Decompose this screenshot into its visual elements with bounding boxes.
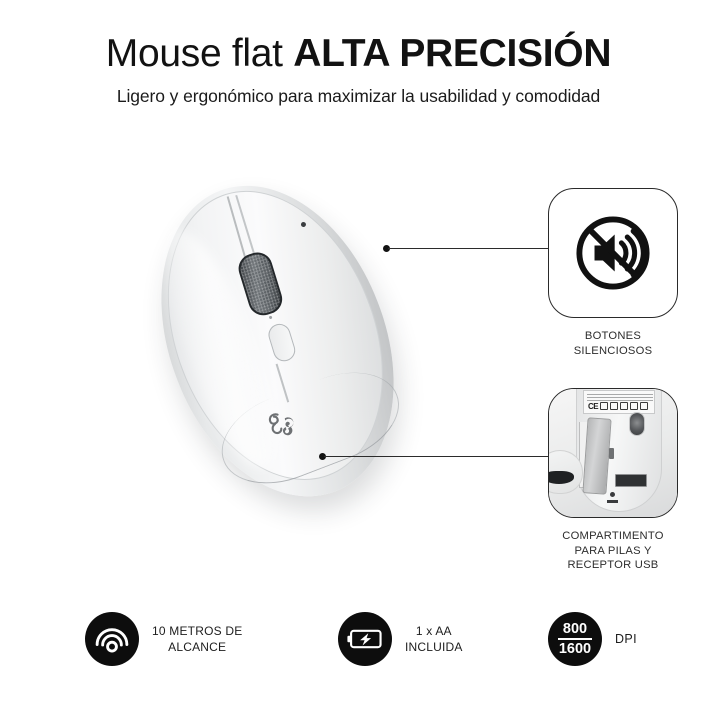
cert-mark-icon <box>620 402 628 410</box>
page-title: Mouse flat ALTA PRECISIÓN <box>0 30 717 78</box>
callout-silent-buttons: BOTONES SILENCIOSOS <box>548 188 678 358</box>
mouse-rotor <box>64 113 501 567</box>
feature-badge-dpi: 800 1600 <box>548 612 602 666</box>
product-image-mouse <box>118 160 448 520</box>
receiver-notch <box>609 448 614 459</box>
feature-battery: 1 x AA INCLUIDA <box>338 612 463 666</box>
caption-line: BOTONES <box>585 330 641 342</box>
dpi-value-low: 800 <box>563 622 587 638</box>
caption-line: RECEPTOR USB <box>567 559 658 571</box>
product-infographic: Mouse flat ALTA PRECISIÓN Ligero y ergon… <box>0 0 717 717</box>
leader-line-silent <box>388 248 550 249</box>
dpi-fraction-icon: 800 1600 <box>558 622 592 656</box>
feature-line: INCLUIDA <box>405 639 463 655</box>
wireless-signal-icon <box>95 622 129 656</box>
callout-caption-silent: BOTONES SILENCIOSOS <box>548 329 678 358</box>
cert-mark-icon <box>600 402 608 410</box>
cert-mark-icon <box>640 402 648 410</box>
usb-receiver-slot <box>615 474 647 487</box>
title-light-part: Mouse flat <box>106 32 293 75</box>
ce-mark-icon: CE <box>588 402 598 411</box>
leader-line-compartment <box>324 456 550 457</box>
cert-mark-icon <box>610 402 618 410</box>
feature-text-battery: 1 x AA INCLUIDA <box>405 623 463 655</box>
feature-line: ALCANCE <box>152 639 242 655</box>
feature-text-range: 10 METROS DE ALCANCE <box>152 623 242 655</box>
dpi-value-high: 1600 <box>559 640 591 656</box>
regulatory-label: CE <box>583 390 655 414</box>
cert-mark-icon <box>630 402 638 410</box>
caption-line: COMPARTIMENTO <box>562 530 663 542</box>
battery-bolt-icon <box>347 626 383 652</box>
callout-box-compartment: CE <box>548 388 678 518</box>
callout-battery-compartment: CE COMPARTIMENTO PARA P <box>548 388 678 573</box>
callout-caption-compartment: COMPARTIMENTO PARA PILAS Y RECEPTOR USB <box>548 529 678 573</box>
header: Mouse flat ALTA PRECISIÓN Ligero y ergon… <box>0 30 717 107</box>
feature-line: 1 x AA <box>405 623 463 639</box>
title-bold-part: ALTA PRECISIÓN <box>293 32 611 75</box>
label-fine-print <box>587 393 653 401</box>
screw-icon <box>607 492 617 506</box>
feature-text-dpi: DPI <box>615 632 637 646</box>
optical-sensor <box>629 412 645 436</box>
label-certification-marks: CE <box>588 401 652 411</box>
feature-range: 10 METROS DE ALCANCE <box>85 612 242 666</box>
callout-box-silent <box>548 188 678 318</box>
mute-speaker-icon <box>571 211 655 295</box>
page-subtitle: Ligero y ergonómico para maximizar la us… <box>0 85 717 107</box>
feature-line: 10 METROS DE <box>152 623 242 639</box>
feature-badge-range <box>85 612 139 666</box>
feature-dpi: 800 1600 DPI <box>548 612 637 666</box>
caption-line: SILENCIOSOS <box>574 345 653 357</box>
caption-line: PARA PILAS Y <box>574 545 651 557</box>
feature-badge-battery <box>338 612 392 666</box>
mouse-underside-photo: CE <box>549 388 677 518</box>
